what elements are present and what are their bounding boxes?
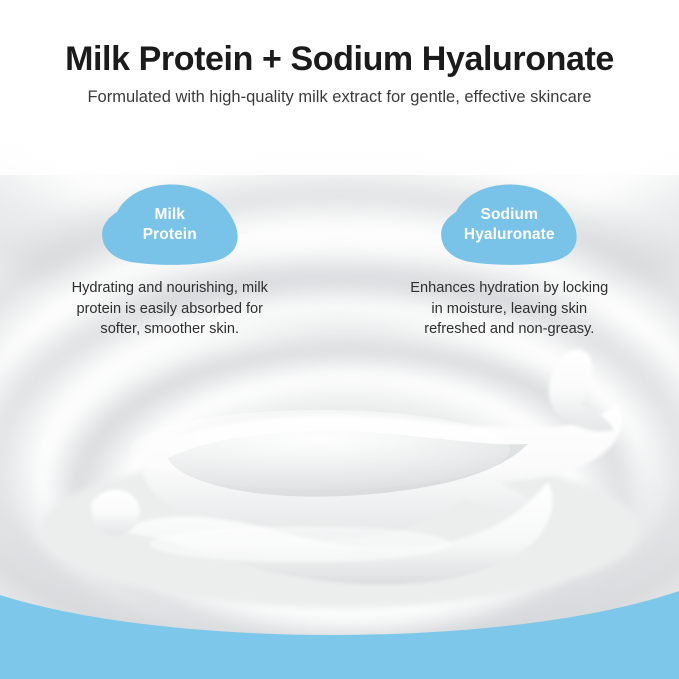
product-feature-banner: Milk Protein + Sodium Hyaluronate Formul… bbox=[0, 0, 679, 679]
feature-milk-protein: Milk Protein Hydrating and nourishing, m… bbox=[0, 182, 340, 355]
ingredient-label: Milk Protein bbox=[143, 203, 197, 245]
feature-description: Enhances hydration by locking in moistur… bbox=[382, 278, 637, 340]
ingredient-badge-milk-protein: Milk Protein bbox=[95, 182, 245, 266]
page-title: Milk Protein + Sodium Hyaluronate bbox=[0, 40, 679, 78]
banner-header: Milk Protein + Sodium Hyaluronate Formul… bbox=[0, 40, 679, 108]
bottom-blue-band bbox=[0, 579, 679, 679]
milk-splash-image bbox=[0, 330, 679, 620]
page-subtitle: Formulated with high-quality milk extrac… bbox=[0, 87, 679, 108]
ingredient-label: Sodium Hyaluronate bbox=[464, 203, 555, 245]
feature-sodium-hyaluronate: Sodium Hyaluronate Enhances hydration by… bbox=[340, 182, 679, 355]
ingredient-badge-sodium-hyaluronate: Sodium Hyaluronate bbox=[434, 182, 584, 266]
feature-list: Milk Protein Hydrating and nourishing, m… bbox=[0, 182, 679, 355]
feature-description: Hydrating and nourishing, milk protein i… bbox=[42, 278, 297, 340]
